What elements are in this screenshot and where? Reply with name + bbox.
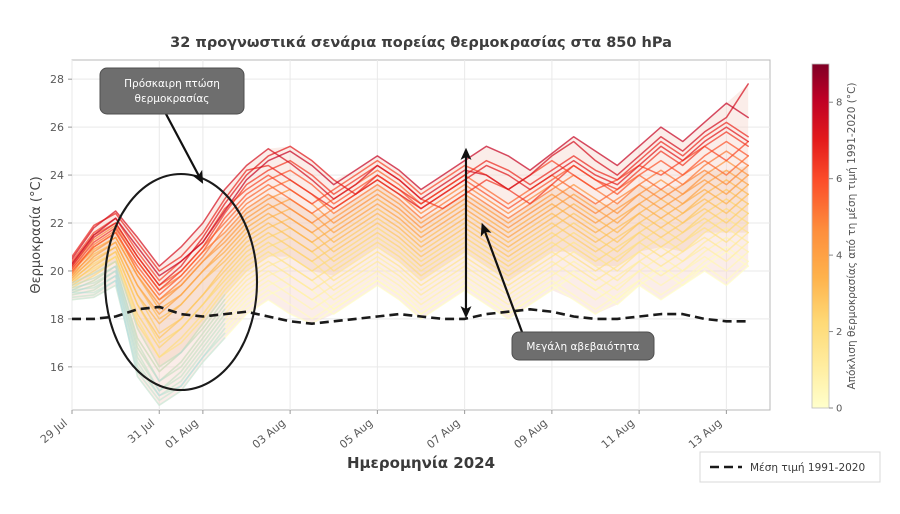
annotation-text-line1: Πρόσκαιρη πτώση [124, 78, 220, 90]
y-tick-label: 24 [50, 169, 64, 182]
y-tick-label: 18 [50, 313, 64, 326]
colorbar-tick-label: 4 [836, 251, 842, 262]
legend-label-climatology: Μέση τιμή 1991-2020 [750, 462, 865, 474]
colorbar-gradient [812, 64, 829, 408]
y-tick-label: 22 [50, 217, 64, 230]
annotation-box [100, 68, 244, 114]
y-axis-title: Θερμοκρασία (°C) [29, 176, 44, 293]
ensemble-forecast-chart: 32 προγνωστικά σενάρια πορείας θερμοκρασ… [0, 0, 900, 514]
colorbar-tick-label: 6 [836, 174, 842, 185]
x-axis-title: Ημερομηνία 2024 [347, 454, 495, 472]
figure-container: 32 προγνωστικά σενάρια πορείας θερμοκρασ… [0, 0, 900, 514]
y-tick-label: 26 [50, 121, 64, 134]
colorbar-label: Απόκλιση θερμοκρασίας από τη μέση τιμή 1… [846, 82, 858, 389]
colorbar-tick-label: 8 [836, 98, 842, 109]
legend-box: Μέση τιμή 1991-2020 [700, 452, 880, 482]
annotation-text-line1: Μεγάλη αβεβαιότητα [526, 341, 639, 353]
y-tick-label: 28 [50, 73, 64, 86]
y-tick-label: 16 [50, 361, 64, 374]
chart-title: 32 προγνωστικά σενάρια πορείας θερμοκρασ… [170, 35, 672, 51]
colorbar-tick-label: 0 [836, 404, 842, 415]
colorbar-tick-label: 2 [836, 327, 842, 338]
y-tick-label: 20 [50, 265, 64, 278]
annotation-text-line2: θερμοκρασίας [135, 93, 210, 105]
